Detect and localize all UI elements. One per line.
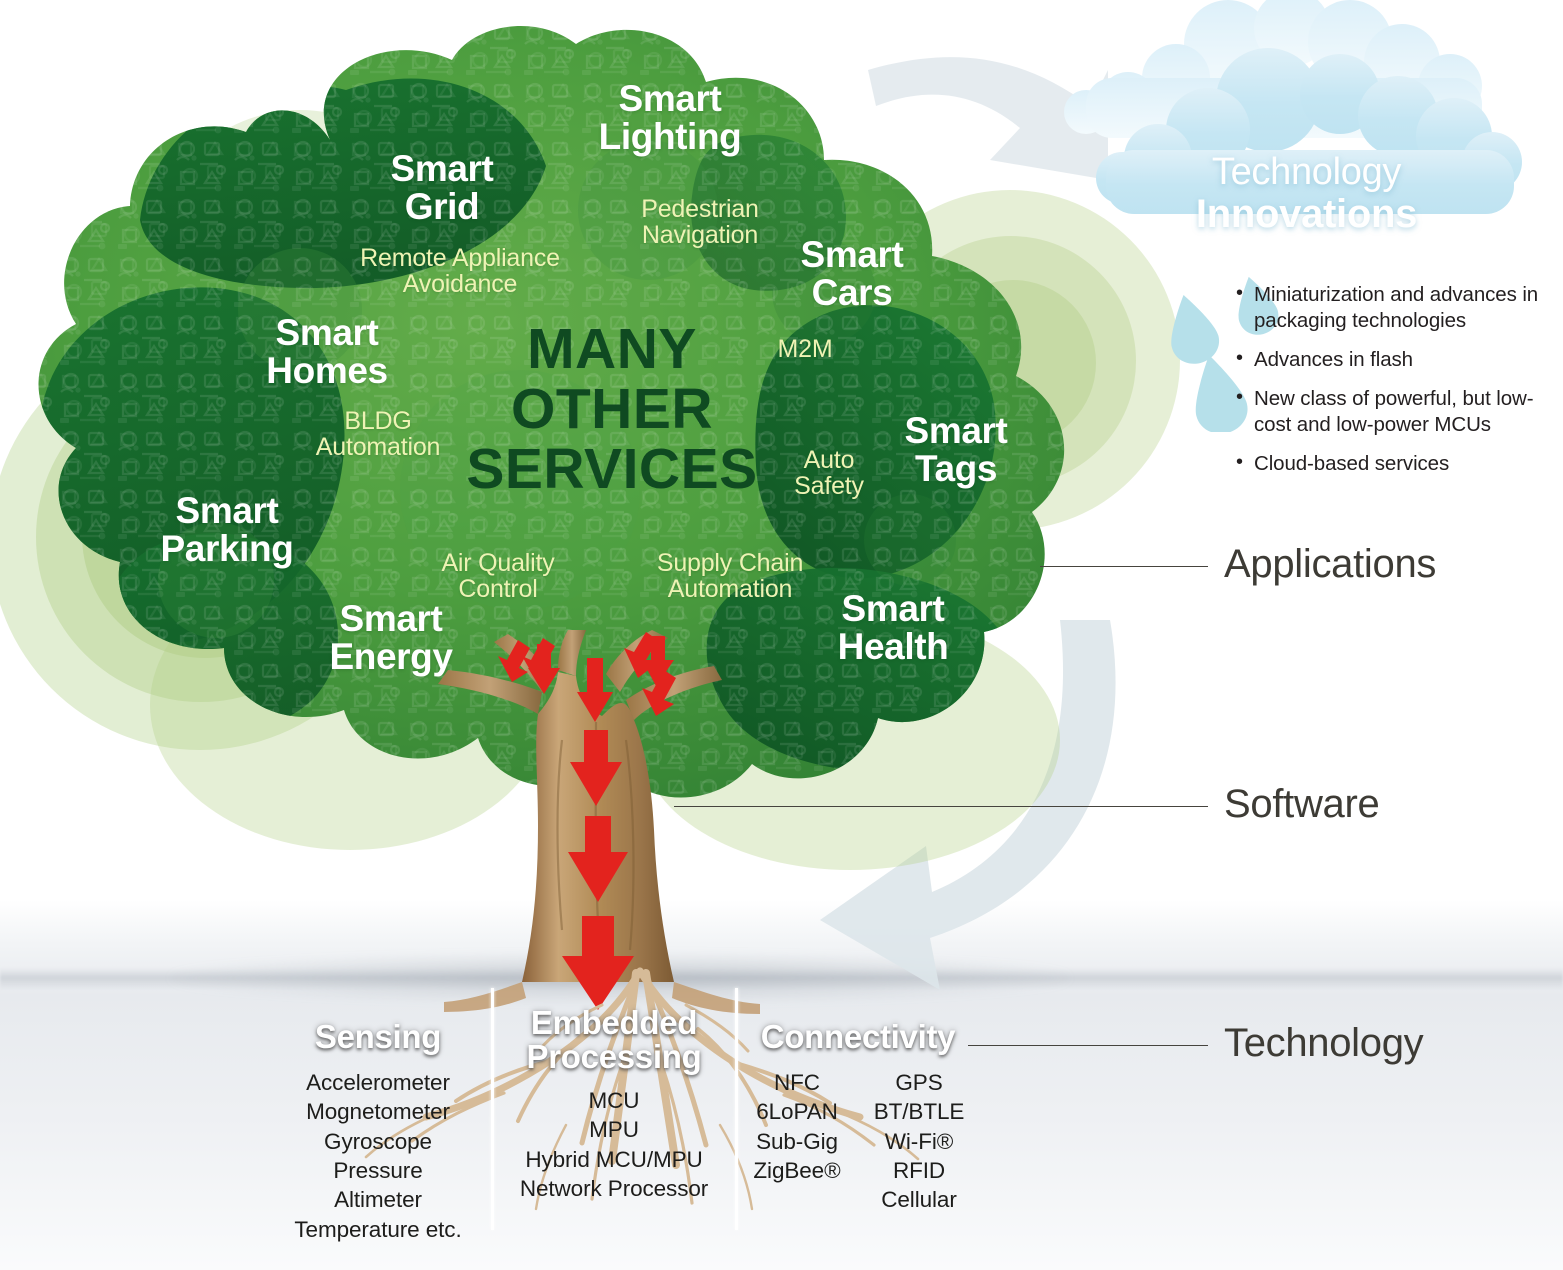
tech-heading-connectivity: Connectivity <box>742 1020 974 1054</box>
tech-item: Mognetometer <box>268 1097 488 1126</box>
tech-item: MCU <box>500 1086 728 1115</box>
callout-line-technology <box>968 1045 1208 1046</box>
callout-line-applications <box>1040 566 1208 567</box>
cloud-title-line2: Innovations <box>1050 193 1563 236</box>
canopy-core-label: MANY OTHER SERVICES <box>462 320 762 500</box>
tech-item: RFID <box>871 1156 967 1185</box>
tech-divider-right <box>735 988 738 1230</box>
canopy-label-m2m: M2M <box>750 336 860 362</box>
tech-item: GPS <box>871 1068 967 1097</box>
cloud-title-line1: Technology <box>1050 152 1563 193</box>
canopy-label-smart-parking: Smart Parking <box>122 492 332 569</box>
canopy-label-smart-health: Smart Health <box>798 590 988 667</box>
tech-column-sensing: Sensing Accelerometer Mognetometer Gyros… <box>268 1020 488 1244</box>
connectivity-subcolumn-a: NFC 6LoPAN Sub-Gig ZigBee® <box>749 1068 845 1215</box>
callout-line-software <box>674 806 1208 807</box>
tech-item: Temperature etc. <box>268 1215 488 1244</box>
tech-item: Pressure <box>268 1156 488 1185</box>
tech-item: BT/BTLE <box>871 1097 967 1126</box>
tech-item: MPU <box>500 1115 728 1144</box>
tech-item: Sub-Gig <box>749 1127 845 1156</box>
infographic-canvas: Smart Lighting Smart Grid Smart Cars Sma… <box>0 0 1563 1270</box>
canopy-label-air-quality-control: Air Quality Control <box>418 550 578 602</box>
tech-column-embedded-processing: Embedded Processing MCU MPU Hybrid MCU/M… <box>500 1006 728 1203</box>
tech-item: Altimeter <box>268 1185 488 1214</box>
tech-item: Gyroscope <box>268 1127 488 1156</box>
tech-item: ZigBee® <box>749 1156 845 1185</box>
canopy-label-smart-lighting: Smart Lighting <box>560 80 780 157</box>
tech-heading-embedded-processing: Embedded Processing <box>500 1006 728 1074</box>
tech-divider-left <box>491 988 494 1230</box>
tech-column-connectivity: Connectivity NFC 6LoPAN Sub-Gig ZigBee® … <box>742 1020 974 1215</box>
callout-technology: Technology <box>1224 1021 1423 1066</box>
list-item: Miniaturization and advances in packagin… <box>1236 282 1563 334</box>
canopy-label-pedestrian-navigation: Pedestrian Navigation <box>610 196 790 248</box>
callout-software: Software <box>1224 782 1379 827</box>
canopy-label-smart-tags: Smart Tags <box>872 412 1040 489</box>
tech-item: 6LoPAN <box>749 1097 845 1126</box>
cloud-title: Technology Innovations <box>1050 152 1563 236</box>
connectivity-subcolumn-b: GPS BT/BTLE Wi-Fi® RFID Cellular <box>871 1068 967 1215</box>
canopy-label-supply-chain-automation: Supply Chain Automation <box>640 550 820 602</box>
tech-item: Hybrid MCU/MPU <box>500 1145 728 1174</box>
canopy-label-smart-grid: Smart Grid <box>352 150 532 227</box>
tech-item: Accelerometer <box>268 1068 488 1097</box>
cloud-bullet-list: Miniaturization and advances in packagin… <box>1236 282 1563 490</box>
callout-applications: Applications <box>1224 542 1436 587</box>
list-item: Cloud-based services <box>1236 451 1563 477</box>
tech-item: Wi-Fi® <box>871 1127 967 1156</box>
tech-item: Cellular <box>871 1185 967 1214</box>
list-item: New class of powerful, but low-cost and … <box>1236 386 1563 438</box>
tech-item: NFC <box>749 1068 845 1097</box>
canopy-label-remote-appliance-avoidance: Remote Appliance Avoidance <box>340 245 580 297</box>
tech-heading-sensing: Sensing <box>268 1020 488 1054</box>
tech-item: Network Processor <box>500 1174 728 1203</box>
canopy-label-auto-safety: Auto Safety <box>782 447 876 499</box>
canopy-label-bldg-automation: BLDG Automation <box>298 408 458 460</box>
canopy-label-smart-homes: Smart Homes <box>232 314 422 391</box>
list-item: Advances in flash <box>1236 347 1563 373</box>
